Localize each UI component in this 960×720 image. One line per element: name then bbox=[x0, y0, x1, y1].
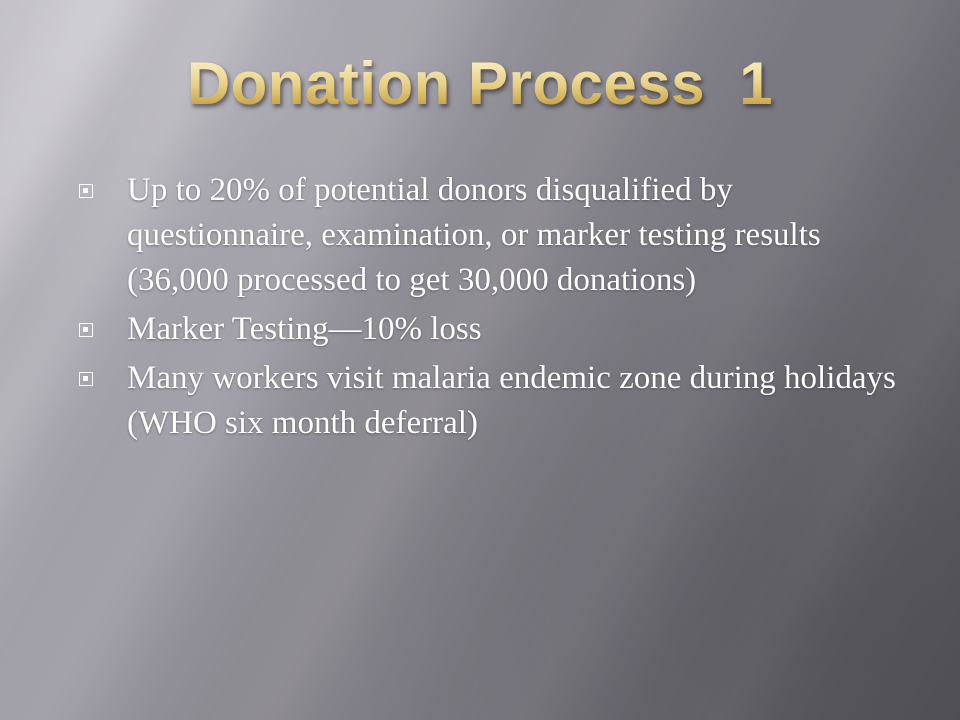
square-dot-bullet-icon bbox=[70, 168, 127, 198]
slide-body-list: Up to 20% of potential donors disqualifi… bbox=[70, 168, 900, 450]
list-item-text: Up to 20% of potential donors disqualifi… bbox=[127, 168, 900, 303]
square-dot-bullet-icon bbox=[70, 356, 127, 386]
presentation-slide: Donation Process 1 Up to 20% of potentia… bbox=[0, 0, 960, 720]
list-item: Up to 20% of potential donors disqualifi… bbox=[70, 168, 900, 303]
square-dot-bullet-icon bbox=[70, 307, 127, 337]
list-item-text: Many workers visit malaria endemic zone … bbox=[127, 356, 900, 446]
slide-title: Donation Process 1 bbox=[0, 52, 960, 115]
list-item: Many workers visit malaria endemic zone … bbox=[70, 356, 900, 446]
list-item-text: Marker Testing—10% loss bbox=[127, 307, 900, 352]
list-item: Marker Testing—10% loss bbox=[70, 307, 900, 352]
